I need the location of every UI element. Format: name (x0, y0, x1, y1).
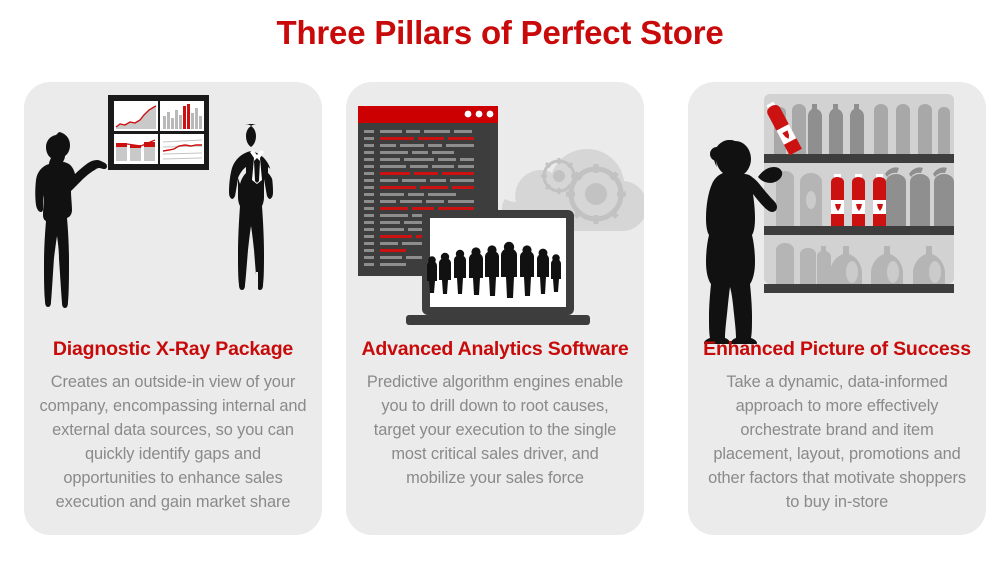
card-body: Creates an outside-in view of your compa… (38, 370, 308, 514)
illustration-shopper-at-shelf (688, 82, 986, 344)
pillar-card-enhanced-picture: Enhanced Picture of Success Take a dynam… (688, 82, 986, 535)
highlighted-red-bottles (831, 174, 886, 226)
card-title: Diagnostic X-Ray Package (32, 338, 314, 361)
pillar-card-advanced-analytics: Advanced Analytics Software Predictive a… (346, 82, 644, 535)
card-body: Predictive algorithm engines enable you … (360, 370, 630, 490)
card-title: Advanced Analytics Software (354, 338, 636, 361)
laptop-with-people-silhouettes (406, 210, 590, 325)
illustration-analytics-software (346, 82, 644, 344)
card-body: Take a dynamic, data-informed approach t… (702, 370, 972, 514)
illustration-two-people-dashboard (24, 82, 322, 344)
pillar-card-diagnostic-x-ray: Diagnostic X-Ray Package Creates an outs… (24, 82, 322, 535)
shelf-unit (764, 94, 954, 293)
page-title: Three Pillars of Perfect Store (0, 14, 1000, 52)
card-title: Enhanced Picture of Success (696, 338, 978, 361)
woman-silhouette-pointing (35, 132, 107, 308)
man-silhouette-suit (229, 124, 276, 314)
dashboard-panel-four-charts (108, 95, 209, 170)
